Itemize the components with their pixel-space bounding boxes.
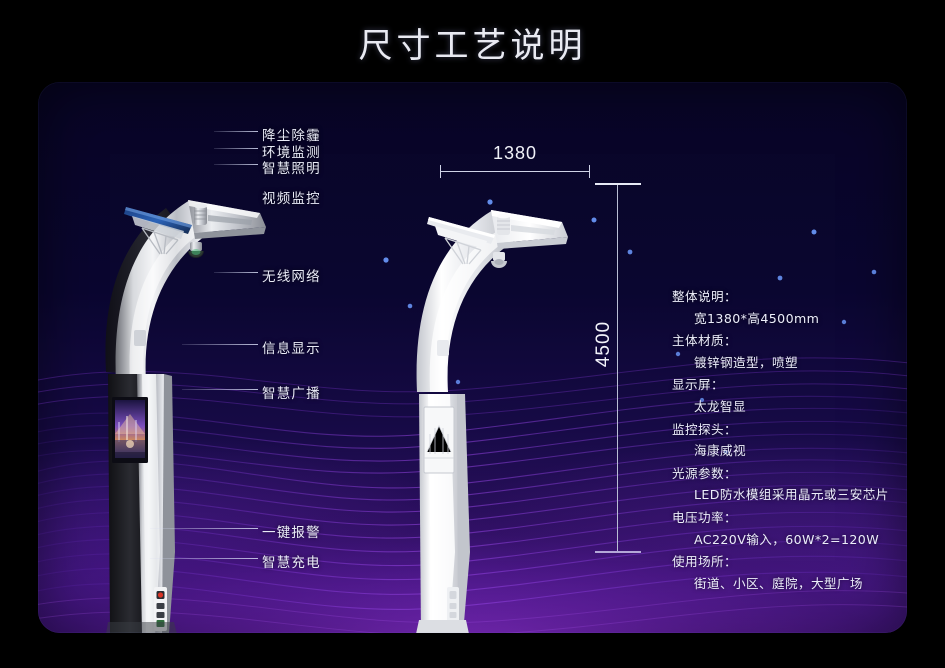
callout-environment-monitor-leader-line <box>214 148 258 149</box>
callout-wireless-network-leader-line <box>214 272 258 273</box>
specification-list: 整体说明：宽1380*高4500mm主体材质：镀锌钢造型，喷塑显示屏：太龙智显监… <box>672 291 887 600</box>
spec-material-heading: 主体材质： <box>672 335 887 348</box>
spec-lightsource-value: LED防水模组采用晶元或三安芯片 <box>672 489 887 502</box>
spec-usage-heading: 使用场所： <box>672 556 887 569</box>
dimension-height-line <box>617 183 618 552</box>
callout-smart-lighting: 智慧照明 <box>262 157 321 177</box>
spec-display-value: 太龙智显 <box>672 401 887 414</box>
spec-power-heading: 电压功率： <box>672 512 887 525</box>
page-title: 尺寸工艺说明 <box>0 18 945 67</box>
callout-one-key-alarm: 一键报警 <box>262 521 321 541</box>
dimension-width-tick-left <box>440 165 441 178</box>
callout-wireless-network: 无线网络 <box>262 265 321 285</box>
spec-usage-value: 街道、小区、庭院，大型广场 <box>672 578 887 591</box>
spec-power-value: AC220V输入，60W*2=120W <box>672 534 887 547</box>
spec-material-value: 镀锌钢造型，喷塑 <box>672 357 887 370</box>
callout-smart-broadcast: 智慧广播 <box>262 382 321 402</box>
screenshot-root: 尺寸工艺说明 <box>0 0 945 668</box>
dimension-width-value: 1380 <box>440 143 590 164</box>
spec-overall-heading: 整体说明： <box>672 291 887 304</box>
dimension-width-bar <box>440 171 590 172</box>
callout-video-surveillance: 视频监控 <box>262 187 321 207</box>
dimension-height-value: 4500 <box>593 321 615 367</box>
callout-smart-charging: 智慧充电 <box>262 551 321 571</box>
dimension-height-tick-bottom <box>595 551 641 553</box>
callout-information-display: 信息显示 <box>262 337 321 357</box>
dimension-height-tick-top <box>595 183 641 185</box>
spec-camera-heading: 监控探头： <box>672 424 887 437</box>
dimension-width-tick-right <box>589 165 590 178</box>
spec-camera-value: 海康威视 <box>672 445 887 458</box>
callout-smart-broadcast-leader-line <box>182 389 258 390</box>
spec-lightsource-heading: 光源参数： <box>672 468 887 481</box>
callout-smart-lighting-leader-line <box>214 164 258 165</box>
callout-one-key-alarm-leader-line <box>150 528 258 529</box>
spec-overall-value: 宽1380*高4500mm <box>672 313 887 326</box>
callout-dust-haze-removal-leader-line <box>214 131 258 132</box>
dimension-width: 1380 <box>440 143 590 164</box>
spec-display-heading: 显示屏： <box>672 379 887 392</box>
callout-information-display-leader-line <box>182 344 258 345</box>
callout-smart-charging-leader-line <box>150 558 258 559</box>
